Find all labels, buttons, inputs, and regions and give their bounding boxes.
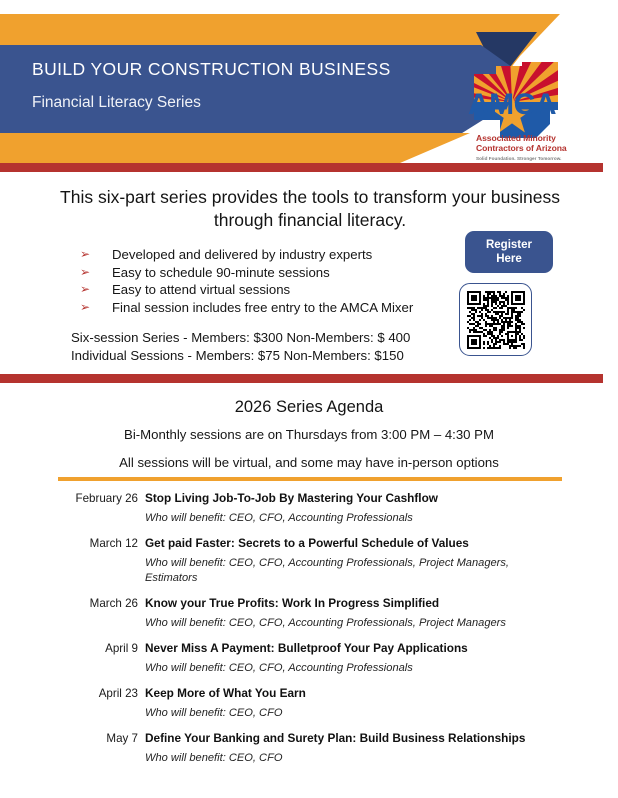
agenda-date: February 26 bbox=[0, 492, 138, 505]
agenda-row: March 12 Get paid Faster: Secrets to a P… bbox=[0, 534, 618, 586]
agenda-topic: Keep More of What You Earn bbox=[145, 684, 306, 702]
agenda-row-head: April 9 Never Miss A Payment: Bulletproo… bbox=[0, 639, 618, 657]
register-button-label-line1: Register bbox=[486, 238, 532, 253]
list-item-label: Easy to schedule 90-minute sessions bbox=[112, 265, 330, 280]
agenda-row: April 23 Keep More of What You Earn Who … bbox=[0, 684, 618, 721]
agenda-topic: Know your True Profits: Work In Progress… bbox=[145, 594, 439, 612]
bullet-arrow-icon: ➢ bbox=[80, 264, 90, 282]
agenda-subtitle-schedule: Bi-Monthly sessions are on Thursdays fro… bbox=[0, 427, 618, 442]
header-banner: BUILD YOUR CONSTRUCTION BUSINESS Financi… bbox=[0, 0, 618, 172]
agenda-row-head: March 26 Know your True Profits: Work In… bbox=[0, 594, 618, 612]
pricing-series-line: Six-session Series - Members: $300 Non-M… bbox=[71, 329, 410, 347]
logo-wordmark: AMCA bbox=[468, 90, 556, 120]
logo-org-name: Associated Minority Contractors of Arizo… bbox=[476, 133, 567, 154]
logo-org-name-line1: Associated Minority bbox=[476, 133, 567, 143]
agenda-topic: Get paid Faster: Secrets to a Powerful S… bbox=[145, 534, 469, 552]
list-item-label: Final session includes free entry to the… bbox=[112, 300, 413, 315]
agenda-title: 2026 Series Agenda bbox=[0, 398, 618, 417]
agenda-date: March 26 bbox=[0, 597, 138, 610]
qr-code-image bbox=[467, 291, 525, 349]
agenda-topic: Never Miss A Payment: Bulletproof Your P… bbox=[145, 639, 468, 657]
page-subtitle: Financial Literacy Series bbox=[32, 94, 452, 111]
agenda-benefit: Who will benefit: CEO, CFO, Accounting P… bbox=[145, 616, 545, 631]
agenda-list: February 26 Stop Living Job-To-Job By Ma… bbox=[0, 489, 618, 774]
agenda-row-head: March 12 Get paid Faster: Secrets to a P… bbox=[0, 534, 618, 552]
qr-code[interactable] bbox=[459, 283, 532, 356]
register-button[interactable]: Register Here bbox=[465, 231, 553, 273]
agenda-date: May 7 bbox=[0, 732, 138, 745]
header-text-block: BUILD YOUR CONSTRUCTION BUSINESS Financi… bbox=[32, 60, 452, 111]
list-item: ➢ Easy to attend virtual sessions bbox=[78, 281, 458, 299]
bullet-arrow-icon: ➢ bbox=[80, 299, 90, 317]
agenda-date: April 23 bbox=[0, 687, 138, 700]
logo-org-name-line2: Contractors of Arizona bbox=[476, 143, 567, 153]
register-button-label-line2: Here bbox=[496, 252, 522, 267]
list-item: ➢ Final session includes free entry to t… bbox=[78, 299, 458, 317]
list-item: ➢ Developed and delivered by industry ex… bbox=[78, 246, 458, 264]
agenda-row: May 7 Define Your Banking and Surety Pla… bbox=[0, 729, 618, 766]
agenda-row: April 9 Never Miss A Payment: Bulletproo… bbox=[0, 639, 618, 676]
amca-logo: AMCA Associated Minority Contractors of … bbox=[466, 62, 598, 170]
agenda-benefit: Who will benefit: CEO, CFO bbox=[145, 706, 545, 721]
bullet-arrow-icon: ➢ bbox=[80, 281, 90, 299]
benefits-list: ➢ Developed and delivered by industry ex… bbox=[78, 246, 458, 316]
agenda-row-head: February 26 Stop Living Job-To-Job By Ma… bbox=[0, 489, 618, 507]
agenda-row-head: May 7 Define Your Banking and Surety Pla… bbox=[0, 729, 618, 747]
list-item-label: Developed and delivered by industry expe… bbox=[112, 247, 372, 262]
pricing-block: Six-session Series - Members: $300 Non-M… bbox=[71, 329, 410, 365]
agenda-topic: Define Your Banking and Surety Plan: Bui… bbox=[145, 729, 525, 747]
section-divider-orange bbox=[58, 477, 562, 481]
agenda-row: February 26 Stop Living Job-To-Job By Ma… bbox=[0, 489, 618, 526]
list-item: ➢ Easy to schedule 90-minute sessions bbox=[78, 264, 458, 282]
orange-lower-rect bbox=[0, 133, 452, 163]
page-title: BUILD YOUR CONSTRUCTION BUSINESS bbox=[32, 60, 452, 79]
agenda-row-head: April 23 Keep More of What You Earn bbox=[0, 684, 618, 702]
agenda-topic: Stop Living Job-To-Job By Mastering Your… bbox=[145, 489, 438, 507]
agenda-benefit: Who will benefit: CEO, CFO, Accounting P… bbox=[145, 556, 545, 586]
list-item-label: Easy to attend virtual sessions bbox=[112, 282, 290, 297]
intro-headline: This six-part series provides the tools … bbox=[40, 186, 580, 232]
bullet-arrow-icon: ➢ bbox=[80, 246, 90, 264]
agenda-benefit: Who will benefit: CEO, CFO, Accounting P… bbox=[145, 661, 545, 676]
logo-tagline: Solid Foundation. Stronger Tomorrow. bbox=[476, 156, 562, 161]
pricing-individual-line: Individual Sessions - Members: $75 Non-M… bbox=[71, 347, 410, 365]
agenda-row: March 26 Know your True Profits: Work In… bbox=[0, 594, 618, 631]
agenda-benefit: Who will benefit: CEO, CFO, Accounting P… bbox=[145, 511, 545, 526]
white-cut-top-right bbox=[470, 0, 618, 14]
agenda-date: March 12 bbox=[0, 537, 138, 550]
section-divider-red bbox=[0, 374, 603, 383]
agenda-subtitle-format: All sessions will be virtual, and some m… bbox=[0, 455, 618, 470]
agenda-date: April 9 bbox=[0, 642, 138, 655]
agenda-benefit: Who will benefit: CEO, CFO bbox=[145, 751, 545, 766]
